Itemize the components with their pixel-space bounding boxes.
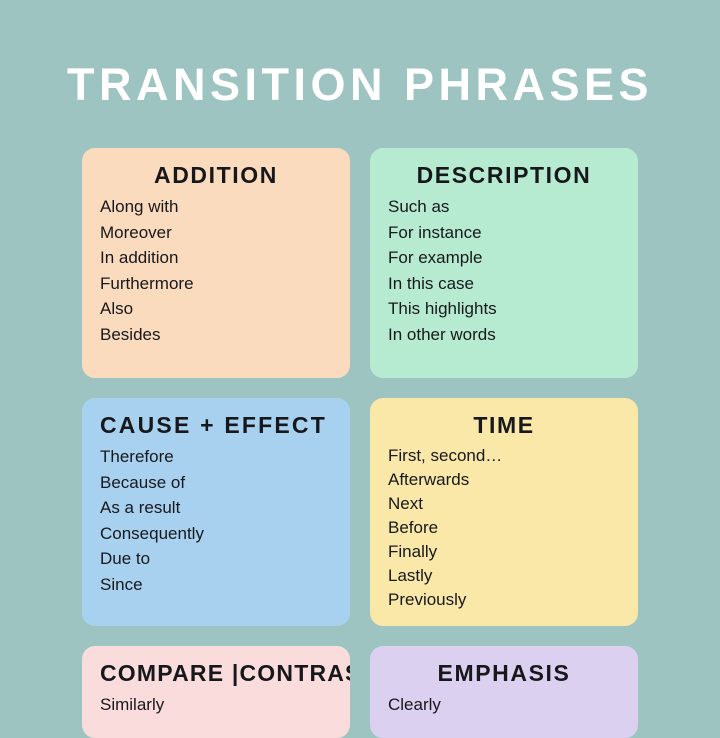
phrase-item: As a result bbox=[100, 495, 332, 521]
phrase-list: Along with Moreover In addition Furtherm… bbox=[100, 194, 332, 347]
phrase-card-heading: TIME bbox=[388, 412, 620, 438]
phrase-card-heading: CAUSE + EFFECT bbox=[100, 412, 332, 438]
transition-phrases-poster: TRANSITION PHRASES ADDITION Along with M… bbox=[0, 0, 720, 720]
phrase-item: Before bbox=[388, 516, 620, 540]
phrase-item: In other words bbox=[388, 322, 620, 348]
phrase-item: Due to bbox=[100, 546, 332, 572]
phrase-list: First, second… Afterwards Next Before Fi… bbox=[388, 444, 620, 612]
phrase-item: Clearly bbox=[388, 692, 620, 718]
phrase-card-cause-effect: CAUSE + EFFECT Therefore Because of As a… bbox=[82, 398, 350, 626]
phrase-list: Therefore Because of As a result Consequ… bbox=[100, 444, 332, 597]
phrase-list: Such as For instance For example In this… bbox=[388, 194, 620, 347]
phrase-list: Clearly bbox=[388, 692, 620, 718]
phrase-card-heading: EMPHASIS bbox=[388, 660, 620, 686]
phrase-item: Next bbox=[388, 492, 620, 516]
phrase-card-time: TIME First, second… Afterwards Next Befo… bbox=[370, 398, 638, 626]
phrase-card-heading: DESCRIPTION bbox=[388, 162, 620, 188]
phrase-item: In addition bbox=[100, 245, 332, 271]
phrase-item: Therefore bbox=[100, 444, 332, 470]
phrase-item: Finally bbox=[388, 540, 620, 564]
phrase-item: Lastly bbox=[388, 564, 620, 588]
phrase-item: This highlights bbox=[388, 296, 620, 322]
phrase-card-heading: ADDITION bbox=[100, 162, 332, 188]
phrase-item: Since bbox=[100, 572, 332, 598]
phrase-item: In this case bbox=[388, 271, 620, 297]
phrase-card-emphasis: EMPHASIS Clearly bbox=[370, 646, 638, 738]
phrase-item: Along with bbox=[100, 194, 332, 220]
phrase-item: For example bbox=[388, 245, 620, 271]
phrase-item: Consequently bbox=[100, 521, 332, 547]
phrase-item: Moreover bbox=[100, 220, 332, 246]
phrase-item: Furthermore bbox=[100, 271, 332, 297]
phrase-card-description: DESCRIPTION Such as For instance For exa… bbox=[370, 148, 638, 378]
phrase-card-addition: ADDITION Along with Moreover In addition… bbox=[82, 148, 350, 378]
phrase-item: Afterwards bbox=[388, 468, 620, 492]
phrase-card-grid: ADDITION Along with Moreover In addition… bbox=[82, 148, 638, 738]
page-title: TRANSITION PHRASES bbox=[0, 62, 720, 107]
phrase-list: Similarly bbox=[100, 692, 332, 718]
phrase-item: Previously bbox=[388, 588, 620, 612]
phrase-item: Similarly bbox=[100, 692, 332, 718]
phrase-item: Such as bbox=[388, 194, 620, 220]
phrase-item: Also bbox=[100, 296, 332, 322]
phrase-item: Besides bbox=[100, 322, 332, 348]
phrase-card-heading: COMPARE |CONTRAST bbox=[100, 660, 332, 686]
phrase-card-compare-contrast: COMPARE |CONTRAST Similarly bbox=[82, 646, 350, 738]
phrase-item: Because of bbox=[100, 470, 332, 496]
phrase-item: First, second… bbox=[388, 444, 620, 468]
phrase-item: For instance bbox=[388, 220, 620, 246]
